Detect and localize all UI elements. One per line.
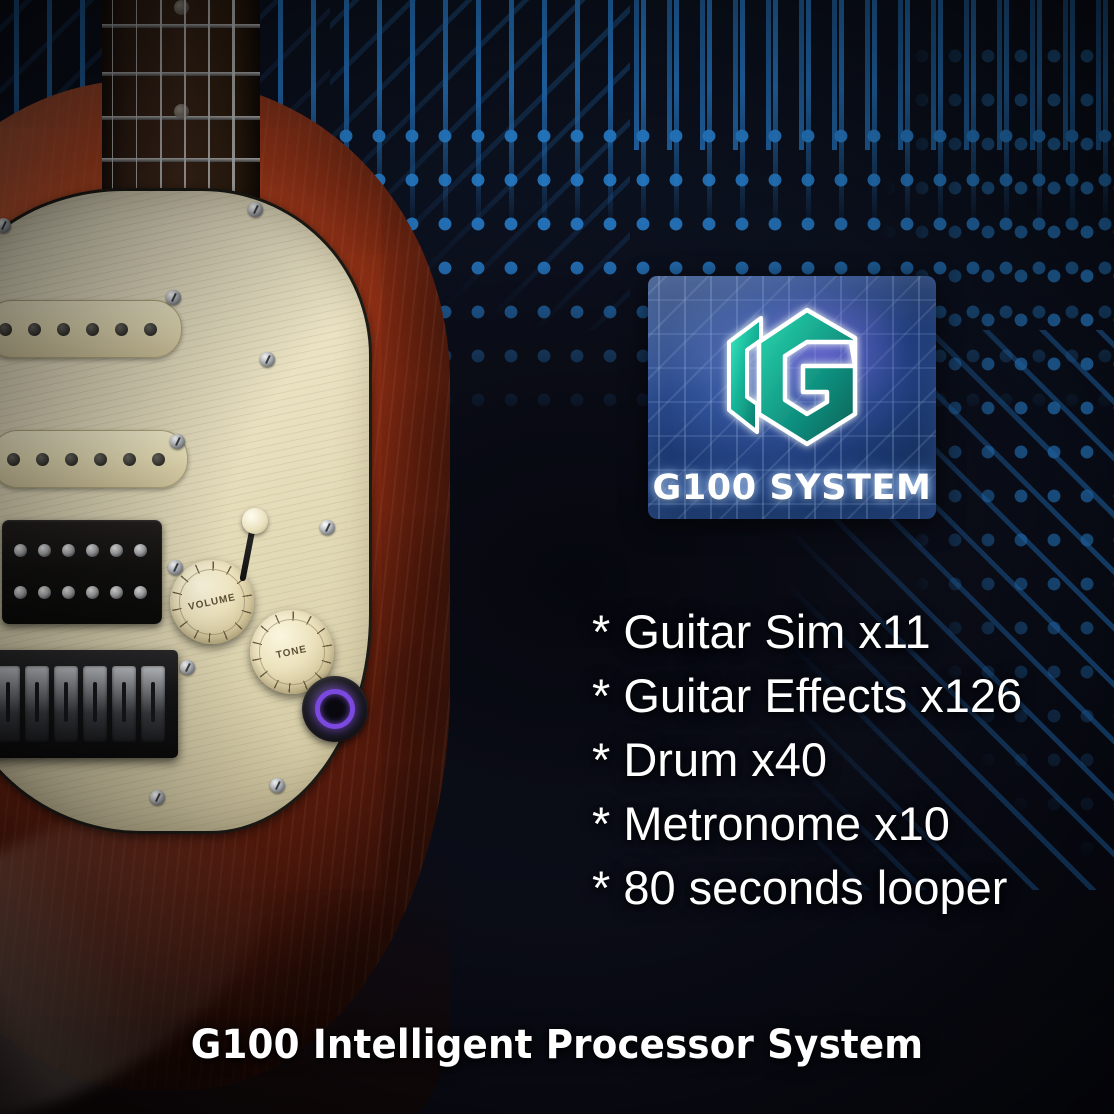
screw <box>168 560 183 575</box>
humbucker-polepiece <box>86 586 99 599</box>
pickup-polepiece <box>57 323 70 336</box>
pickup-polepiece <box>7 453 20 466</box>
fret <box>102 24 260 28</box>
feature-item: * Metronome x10 <box>592 792 1092 856</box>
feature-item: * Drum x40 <box>592 728 1092 792</box>
pickup-selector-tip[interactable] <box>242 508 268 534</box>
bridge-saddle <box>112 666 136 742</box>
badge-title: G100 SYSTEM <box>648 468 936 508</box>
feature-list: * Guitar Sim x11* Guitar Effects x126* D… <box>592 600 1092 920</box>
bridge-saddle <box>83 666 107 742</box>
humbucker-polepiece <box>14 586 27 599</box>
electric-guitar: VOLUME TONE <box>0 0 610 1114</box>
humbucker-polepiece <box>110 586 123 599</box>
screw <box>320 520 335 535</box>
bridge-saddle <box>54 666 78 742</box>
pickup-polepiece <box>65 453 78 466</box>
screw <box>270 778 285 793</box>
humbucker-polepiece <box>110 544 123 557</box>
fret-inlay <box>174 104 189 119</box>
pickup-polepiece <box>144 323 157 336</box>
pickup-polepiece <box>94 453 107 466</box>
humbucker-polepiece <box>38 544 51 557</box>
humbucker-polepiece <box>38 586 51 599</box>
g100-system-badge: G100 SYSTEM <box>648 276 936 519</box>
led-indicator <box>315 689 355 729</box>
fret <box>102 158 260 162</box>
humbucker-polepiece <box>134 544 147 557</box>
bridge-humbucker-pickup <box>2 520 162 624</box>
output-jack[interactable] <box>302 676 368 742</box>
screw <box>248 202 263 217</box>
humbucker-polepiece <box>134 586 147 599</box>
humbucker-polepiece <box>62 586 75 599</box>
fret-inlay <box>174 0 189 15</box>
screw <box>166 290 181 305</box>
pickup-polepiece <box>123 453 136 466</box>
hexagonal-g-logo-icon <box>699 292 885 458</box>
tremolo-bridge <box>0 650 178 758</box>
pickup-polepiece <box>152 453 165 466</box>
screw <box>150 790 165 805</box>
bridge-saddle <box>25 666 49 742</box>
neck-pickup <box>0 300 182 358</box>
pickup-polepiece <box>36 453 49 466</box>
screw <box>170 434 185 449</box>
product-image: VOLUME TONE <box>0 0 1114 1114</box>
screw <box>180 660 195 675</box>
humbucker-polepiece <box>14 544 27 557</box>
bridge-saddle <box>141 666 165 742</box>
screw <box>260 352 275 367</box>
pickup-polepiece <box>115 323 128 336</box>
humbucker-polepiece <box>86 544 99 557</box>
feature-item: * Guitar Effects x126 <box>592 664 1092 728</box>
middle-pickup <box>0 430 188 488</box>
humbucker-polepiece <box>62 544 75 557</box>
page-title: G100 Intelligent Processor System <box>39 1022 1075 1068</box>
feature-item: * Guitar Sim x11 <box>592 600 1092 664</box>
bridge-saddle <box>0 666 20 742</box>
fret <box>102 72 260 76</box>
pickup-polepiece <box>0 323 12 336</box>
feature-item: * 80 seconds looper <box>592 856 1092 920</box>
pickup-polepiece <box>86 323 99 336</box>
pickup-polepiece <box>28 323 41 336</box>
